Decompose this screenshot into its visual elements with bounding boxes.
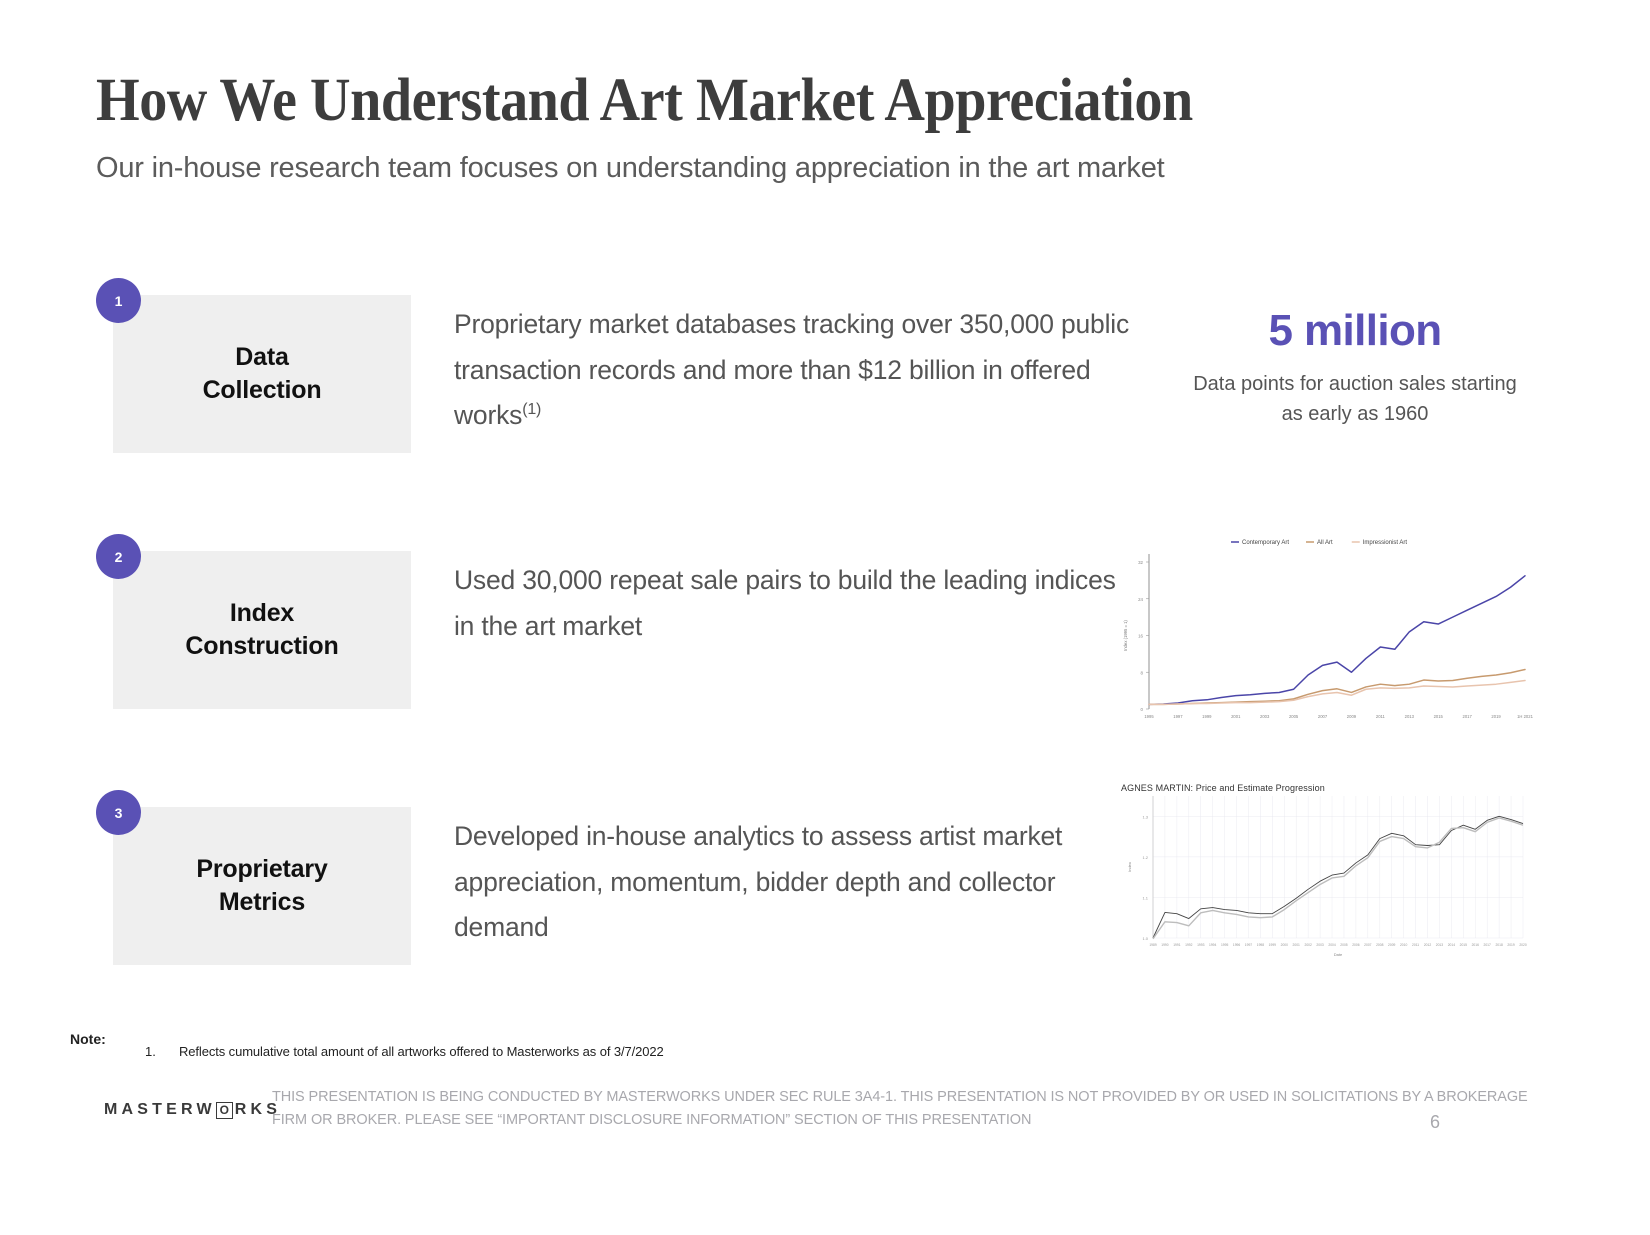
legend-label: Impressionist Art — [1363, 540, 1408, 546]
series-line-contemporary-art — [1149, 576, 1525, 705]
legal-disclaimer: THIS PRESENTATION IS BEING CONDUCTED BY … — [272, 1086, 1552, 1133]
page-title: How We Understand Art Market Appreciatio… — [96, 66, 1193, 136]
x-tick-label: 2006 — [1352, 943, 1360, 947]
x-tick-label: 1995 — [1221, 943, 1229, 947]
y-tick-label: 16 — [1138, 634, 1143, 639]
legend-label: All Art — [1317, 540, 1333, 546]
x-tick-label: 2017 — [1484, 943, 1492, 947]
x-tick-label: 2007 — [1364, 943, 1372, 947]
series-line-estimate — [1153, 818, 1523, 939]
step-label-2-line2: Construction — [185, 632, 338, 660]
agnes-martin-svg: 1.01.11.21.3Index19891990199119921993199… — [1113, 778, 1533, 968]
x-tick-label: 1996 — [1233, 943, 1241, 947]
step-label-1-line2: Collection — [203, 376, 322, 404]
step-label-2-line1: Index — [230, 599, 294, 627]
note-label: Note: — [70, 1031, 106, 1047]
x-tick-label: 1998 — [1257, 943, 1265, 947]
step-badge-2: 2 — [96, 534, 141, 579]
x-tick-label: 1H 2021 — [1517, 714, 1533, 719]
y-tick-label: 1.3 — [1142, 814, 1148, 819]
x-tick-label: 2002 — [1304, 943, 1312, 947]
x-tick-label: 1997 — [1245, 943, 1253, 947]
step-label-box-1: Data Collection — [113, 295, 411, 453]
slide: How We Understand Art Market Appreciatio… — [0, 0, 1650, 1235]
step-label-1-line1: Data — [235, 343, 288, 371]
x-tick-label: 2009 — [1388, 943, 1396, 947]
series-line-impressionist-art — [1149, 681, 1525, 705]
x-tick-label: 2015 — [1434, 714, 1444, 719]
step-badge-1: 1 — [96, 278, 141, 323]
x-tick-label: 2015 — [1460, 943, 1468, 947]
stat-value: 5 million — [1185, 306, 1525, 356]
x-tick-label: 2003 — [1316, 943, 1324, 947]
x-tick-label: 2018 — [1495, 943, 1503, 947]
x-tick-label: 2017 — [1462, 714, 1472, 719]
x-tick-label: 2009 — [1347, 714, 1357, 719]
note-item-number: 1. — [145, 1044, 156, 1059]
legend-label: Contemporary Art — [1242, 540, 1289, 546]
stat-callout: 5 million Data points for auction sales … — [1185, 306, 1525, 429]
x-tick-label: 1992 — [1185, 943, 1193, 947]
x-tick-label: 2008 — [1376, 943, 1384, 947]
x-tick-label: 2019 — [1491, 714, 1501, 719]
y-axis-label: Index — [1127, 862, 1132, 872]
logo-text-pre: MASTERW — [104, 1101, 216, 1119]
step-body-1: Proprietary market databases tracking ov… — [454, 302, 1134, 439]
x-tick-label: 2001 — [1293, 943, 1301, 947]
x-tick-label: 2005 — [1289, 714, 1299, 719]
step-label-2: Index Construction — [185, 597, 338, 663]
x-tick-label: 1995 — [1144, 714, 1154, 719]
page-number: 6 — [1430, 1112, 1440, 1133]
logo-boxed-o-icon: O — [216, 1102, 233, 1119]
stat-caption: Data points for auction sales starting a… — [1185, 370, 1525, 429]
step-label-box-2: Index Construction — [113, 551, 411, 709]
x-tick-label: 1994 — [1209, 943, 1217, 947]
y-tick-label: 1.1 — [1142, 895, 1148, 900]
x-tick-label: 1999 — [1202, 714, 1212, 719]
x-tick-label: 2012 — [1424, 943, 1432, 947]
x-tick-label: 2019 — [1507, 943, 1515, 947]
step-label-3-line1: Proprietary — [196, 855, 327, 883]
x-tick-label: 1989 — [1149, 943, 1157, 947]
x-tick-label: 2004 — [1328, 943, 1336, 947]
art-market-index-chart: 08162432Index (1995 = 1)1995199719992001… — [1113, 520, 1533, 735]
x-tick-label: 2014 — [1448, 943, 1456, 947]
agnes-martin-chart: 1.01.11.21.3Index19891990199119921993199… — [1113, 778, 1533, 968]
art-market-index-svg: 08162432Index (1995 = 1)1995199719992001… — [1113, 520, 1533, 735]
step-body-2: Used 30,000 repeat sale pairs to build t… — [454, 558, 1134, 649]
y-tick-label: 24 — [1138, 597, 1143, 602]
x-tick-label: 2011 — [1376, 714, 1386, 719]
x-tick-label: 1997 — [1173, 714, 1183, 719]
x-tick-label: 2005 — [1340, 943, 1348, 947]
y-tick-label: 1.0 — [1142, 936, 1148, 941]
step-body-3: Developed in-house analytics to assess a… — [454, 814, 1134, 951]
x-tick-label: 2000 — [1281, 943, 1289, 947]
x-tick-label: 2013 — [1405, 714, 1415, 719]
y-tick-label: 1.2 — [1142, 855, 1148, 860]
x-tick-label: 1999 — [1269, 943, 1277, 947]
step-body-1-footnote: (1) — [522, 401, 541, 418]
masterworks-logo: MASTERWORKS — [104, 1101, 281, 1119]
step-label-3: Proprietary Metrics — [196, 853, 327, 919]
step-label-3-line2: Metrics — [219, 888, 305, 916]
step-label-1: Data Collection — [203, 341, 322, 407]
y-tick-label: 8 — [1141, 670, 1144, 675]
x-tick-label: 2020 — [1519, 943, 1527, 947]
step-body-1-text: Proprietary market databases tracking ov… — [454, 309, 1129, 430]
x-tick-label: 2010 — [1400, 943, 1408, 947]
x-tick-label: 2003 — [1260, 714, 1270, 719]
note-item-text: Reflects cumulative total amount of all … — [179, 1044, 664, 1059]
y-tick-label: 0 — [1141, 707, 1144, 712]
y-tick-label: 32 — [1138, 560, 1143, 565]
x-tick-label: 2007 — [1318, 714, 1328, 719]
x-tick-label: 1993 — [1197, 943, 1205, 947]
x-tick-label: 1991 — [1173, 943, 1181, 947]
x-tick-label: 2001 — [1231, 714, 1241, 719]
x-tick-label: 2016 — [1472, 943, 1480, 947]
x-tick-label: 2011 — [1412, 943, 1419, 947]
x-axis-label: Date — [1334, 952, 1343, 957]
x-tick-label: 2013 — [1436, 943, 1444, 947]
step-badge-3: 3 — [96, 790, 141, 835]
step-label-box-3: Proprietary Metrics — [113, 807, 411, 965]
page-subtitle: Our in-house research team focuses on un… — [96, 152, 1164, 185]
y-axis-label: Index (1995 = 1) — [1123, 620, 1128, 651]
x-tick-label: 1990 — [1161, 943, 1169, 947]
